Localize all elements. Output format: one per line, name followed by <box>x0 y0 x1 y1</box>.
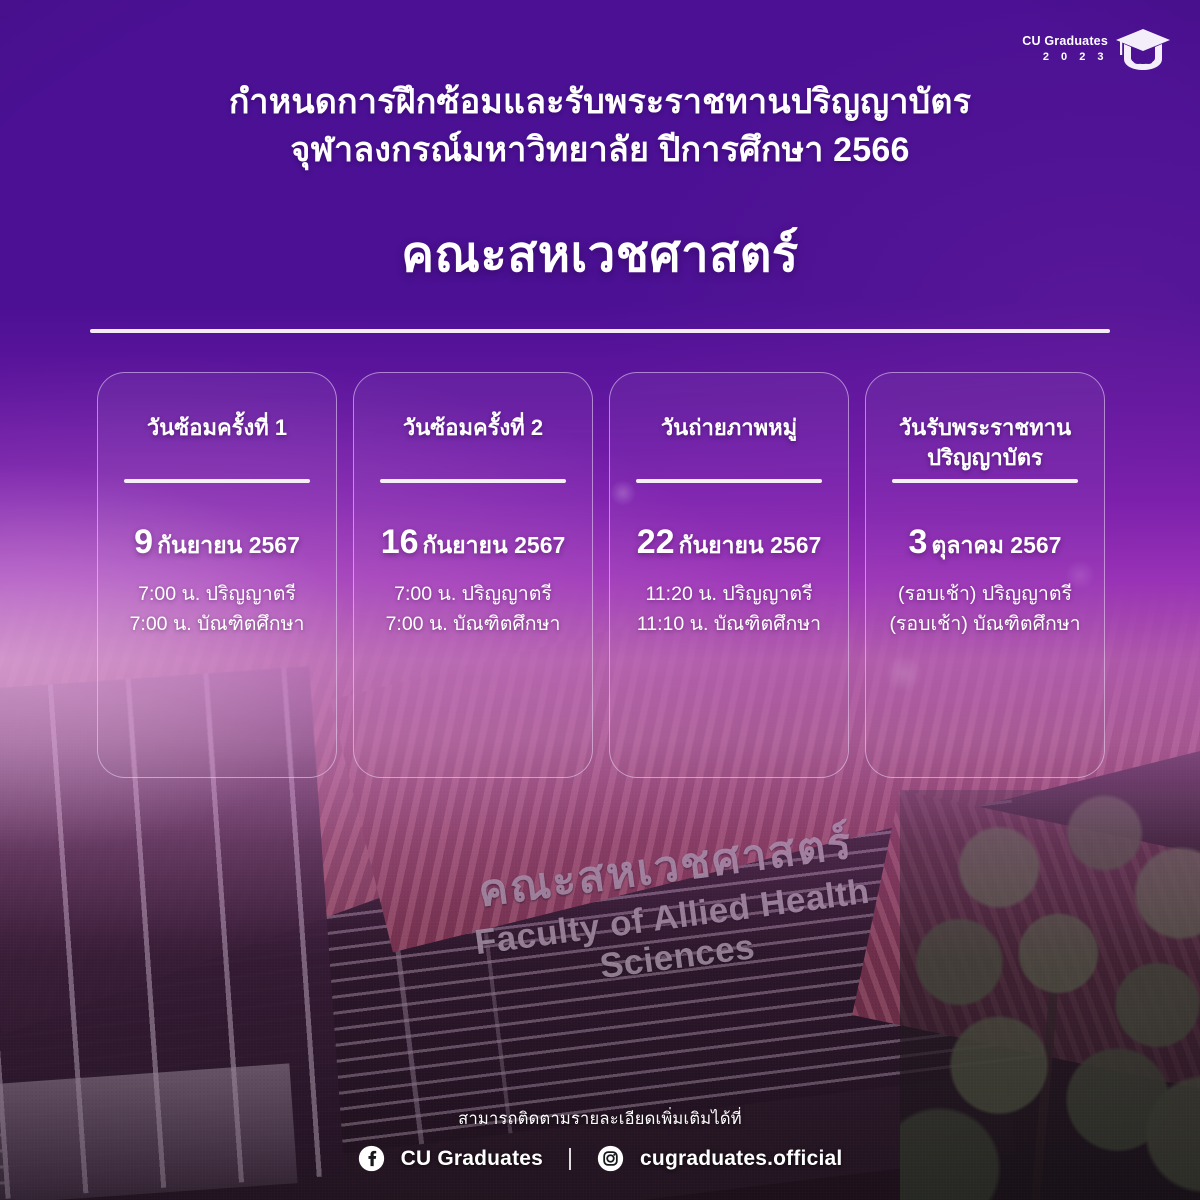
card-date-month-year: กันยายน 2567 <box>157 532 300 558</box>
card-divider <box>380 479 566 483</box>
schedule-card-rehearsal-1: วันซ้อมครั้งที่ 1 9กันยายน 2567 7:00 น. … <box>97 372 337 778</box>
card-date: 22กันยายน 2567 <box>610 523 848 564</box>
card-detail-lines: 11:20 น. ปริญญาตรี 11:10 น. บัณฑิตศึกษา <box>610 579 848 639</box>
card-date-day: 22 <box>637 523 675 561</box>
footer-social-row: CU Graduates cugraduates.official <box>0 1145 1200 1172</box>
card-date: 16กันยายน 2567 <box>354 523 592 564</box>
title-line-2: จุฬาลงกรณ์มหาวิทยาลัย ปีการศึกษา 2566 <box>0 126 1200 174</box>
card-date-day: 16 <box>381 523 419 561</box>
schedule-card-rehearsal-2: วันซ้อมครั้งที่ 2 16กันยายน 2567 7:00 น.… <box>353 372 593 778</box>
footer-note: สามารถติดตามรายละเอียดเพิ่มเติมได้ที่ <box>0 1106 1200 1132</box>
card-detail-line: (รอบเช้า) บัณฑิตศึกษา <box>866 609 1104 639</box>
poster-title: กำหนดการฝึกซ้อมและรับพระราชทานปริญญาบัตร… <box>0 78 1200 175</box>
card-divider <box>124 479 310 483</box>
card-date: 9กันยายน 2567 <box>98 523 336 564</box>
graduation-cap-cu-icon: CU <box>1114 26 1172 72</box>
footer: สามารถติดตามรายละเอียดเพิ่มเติมได้ที่ CU… <box>0 1106 1200 1172</box>
card-detail-line: 7:00 น. ปริญญาตรี <box>98 579 336 609</box>
card-date-day: 9 <box>134 523 153 561</box>
poster-canvas: คณะสหเวชศาสตร์ Faculty of Allied Health … <box>0 0 1200 1200</box>
faculty-name: คณะสหเวชศาสตร์ <box>0 215 1200 293</box>
facebook-icon[interactable] <box>358 1145 385 1172</box>
card-detail-line: (รอบเช้า) ปริญญาตรี <box>866 579 1104 609</box>
instagram-label[interactable]: cugraduates.official <box>640 1147 842 1171</box>
card-detail-lines: 7:00 น. ปริญญาตรี 7:00 น. บัณฑิตศึกษา <box>354 579 592 639</box>
card-divider <box>636 479 822 483</box>
logo-year: 2 0 2 3 <box>1022 51 1108 64</box>
card-date-month-year: ตุลาคม 2567 <box>931 532 1061 558</box>
card-detail-line: 11:10 น. บัณฑิตศึกษา <box>610 609 848 639</box>
card-detail-line: 11:20 น. ปริญญาตรี <box>610 579 848 609</box>
card-date: 3ตุลาคม 2567 <box>866 523 1104 564</box>
schedule-card-group-photo: วันถ่ายภาพหมู่ 22กันยายน 2567 11:20 น. ป… <box>609 372 849 778</box>
cu-graduates-logo: CU Graduates 2 0 2 3 CU <box>1022 26 1172 72</box>
card-detail-lines: 7:00 น. ปริญญาตรี 7:00 น. บัณฑิตศึกษา <box>98 579 336 639</box>
svg-text:CU: CU <box>1132 51 1154 68</box>
card-detail-line: 7:00 น. ปริญญาตรี <box>354 579 592 609</box>
schedule-card-commencement: วันรับพระราชทาน ปริญญาบัตร 3ตุลาคม 2567 … <box>865 372 1105 778</box>
card-date-day: 3 <box>909 523 928 561</box>
card-detail-lines: (รอบเช้า) ปริญญาตรี (รอบเช้า) บัณฑิตศึกษ… <box>866 579 1104 639</box>
card-title: วันถ่ายภาพหมู่ <box>627 413 832 443</box>
card-title: วันซ้อมครั้งที่ 2 <box>371 413 576 443</box>
logo-name: CU Graduates <box>1022 34 1108 48</box>
title-line-1: กำหนดการฝึกซ้อมและรับพระราชทานปริญญาบัตร <box>0 78 1200 126</box>
card-detail-line: 7:00 น. บัณฑิตศึกษา <box>98 609 336 639</box>
card-title: วันรับพระราชทาน ปริญญาบัตร <box>883 413 1088 472</box>
instagram-icon[interactable] <box>597 1145 624 1172</box>
card-divider <box>892 479 1078 483</box>
logo-text-block: CU Graduates 2 0 2 3 <box>1022 34 1108 63</box>
card-detail-line: 7:00 น. บัณฑิตศึกษา <box>354 609 592 639</box>
footer-separator <box>569 1148 571 1170</box>
facebook-label[interactable]: CU Graduates <box>401 1147 543 1171</box>
schedule-card-row: วันซ้อมครั้งที่ 1 9กันยายน 2567 7:00 น. … <box>97 372 1105 778</box>
card-title: วันซ้อมครั้งที่ 1 <box>115 413 320 443</box>
card-date-month-year: กันยายน 2567 <box>423 532 566 558</box>
header-divider <box>90 329 1110 333</box>
card-date-month-year: กันยายน 2567 <box>679 532 822 558</box>
